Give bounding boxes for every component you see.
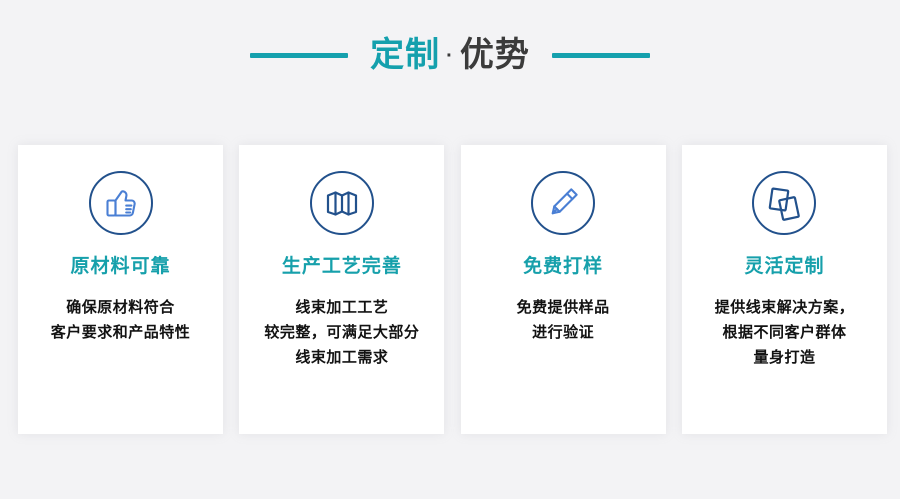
feature-card-body-line: 客户要求和产品特性 [26,321,215,346]
feature-card-title: 原材料可靠 [70,257,170,276]
feature-card-body-line: 量身打造 [690,346,879,371]
page-title: 定制 · 优势 [370,38,530,72]
feature-card-body-line: 进行验证 [469,321,658,346]
feature-card-body-line: 较完整，可满足大部分 [247,321,436,346]
feature-card[interactable]: 原材料可靠 确保原材料符合 客户要求和产品特性 [18,145,223,434]
feature-card-body-line: 提供线束解决方案， [690,296,879,321]
header-rule-left [250,53,348,58]
thumbs-up-icon [85,167,157,239]
feature-card-body: 提供线束解决方案， 根据不同客户群体 量身打造 [682,296,887,370]
stacked-cards-icon [748,167,820,239]
feature-card-list: 原材料可靠 确保原材料符合 客户要求和产品特性 生产工艺完善 [18,145,887,434]
feature-card-body-line: 确保原材料符合 [26,296,215,321]
feature-card-body: 确保原材料符合 客户要求和产品特性 [18,296,223,346]
feature-card-body-line: 免费提供样品 [469,296,658,321]
page-title-accent: 定制 [370,38,440,72]
feature-card-body: 免费提供样品 进行验证 [461,296,666,346]
promo-page: 定制 · 优势 原材料可靠 确保原材料符合 客户 [0,0,900,499]
feature-card-title: 免费打样 [523,257,603,276]
page-title-rest: 优势 [460,38,530,72]
feature-card-body-line: 根据不同客户群体 [690,321,879,346]
feature-card-body: 线束加工工艺 较完整，可满足大部分 线束加工需求 [239,296,444,370]
feature-card-title: 灵活定制 [744,257,824,276]
pencil-icon [527,167,599,239]
feature-card-body-line: 线束加工工艺 [247,296,436,321]
feature-card-title: 生产工艺完善 [282,257,402,276]
feature-card-body-line: 线束加工需求 [247,346,436,371]
header-rule-right [552,53,650,58]
section-header: 定制 · 优势 [0,24,900,86]
page-title-separator: · [440,46,460,66]
feature-card[interactable]: 免费打样 免费提供样品 进行验证 [461,145,666,434]
feature-card[interactable]: 生产工艺完善 线束加工工艺 较完整，可满足大部分 线束加工需求 [239,145,444,434]
feature-card[interactable]: 灵活定制 提供线束解决方案， 根据不同客户群体 量身打造 [682,145,887,434]
folded-map-icon [306,167,378,239]
